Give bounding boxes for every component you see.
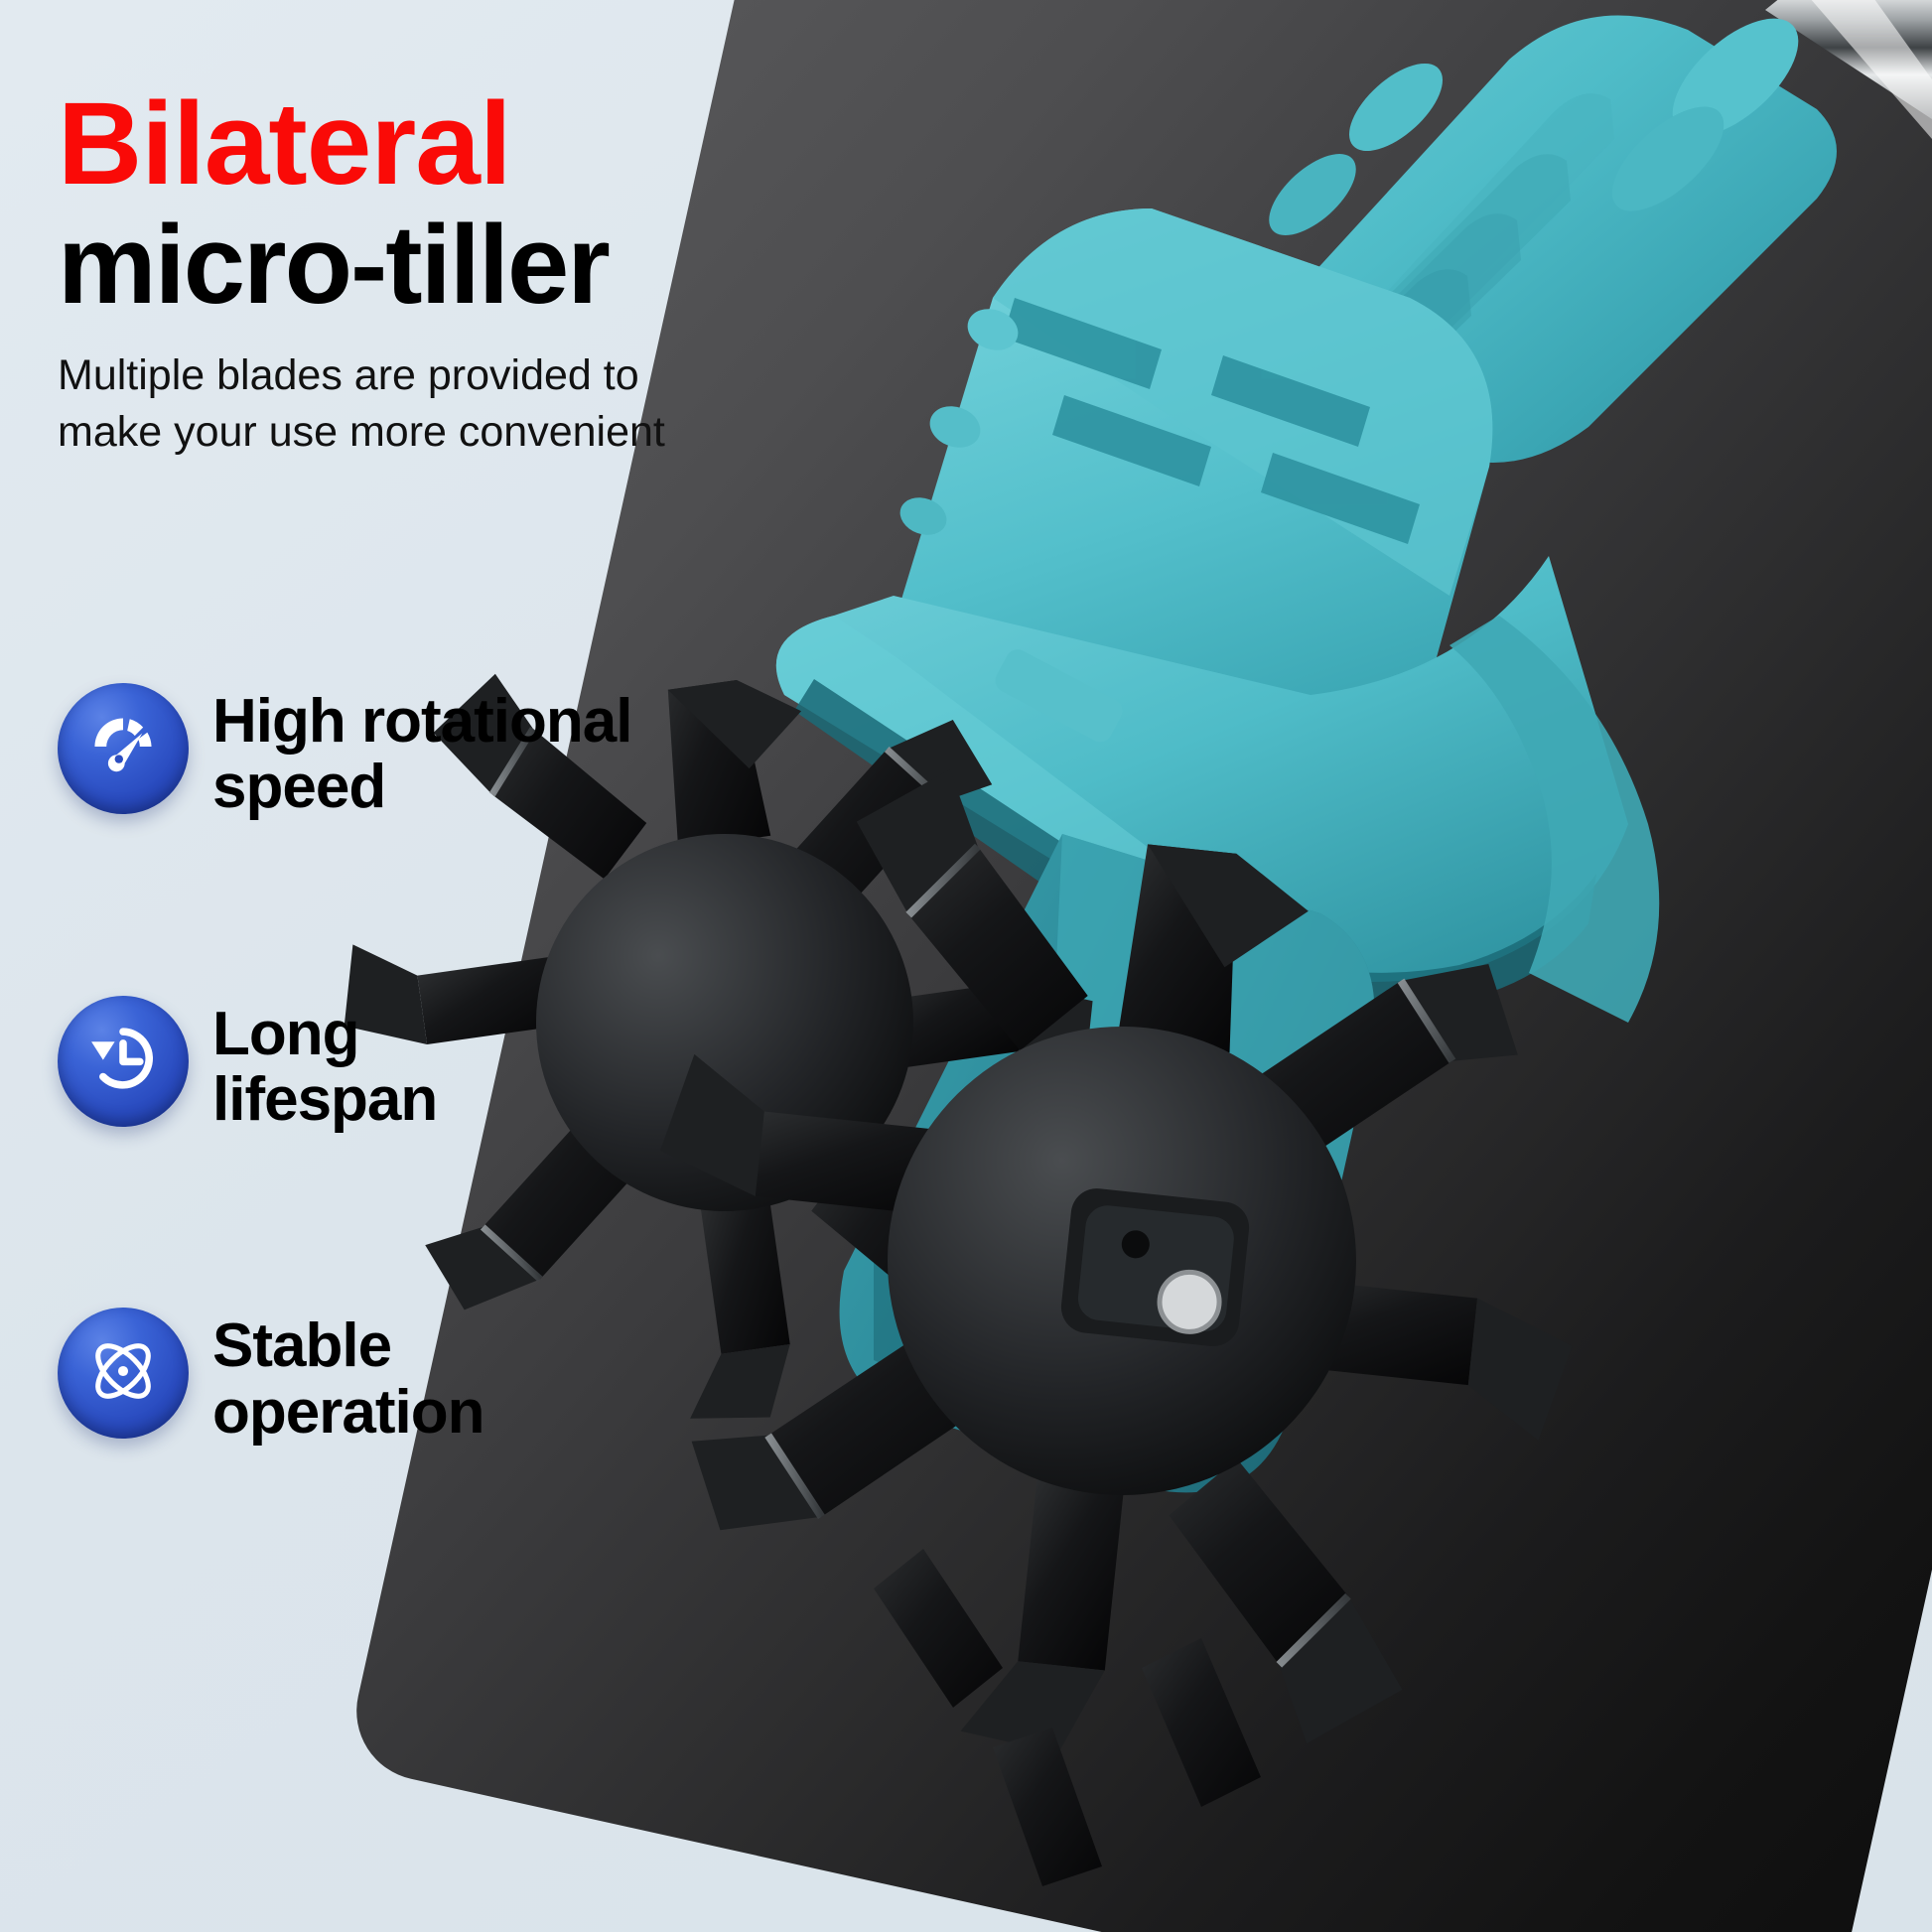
headline-subtitle: Multiple blades are provided to make you… [58,347,693,461]
feature-label: High rotational speed [212,683,631,821]
headline-line-2: micro-tiller [58,208,753,322]
headline-line-1: Bilateral [58,85,753,203]
feature-badge [58,1308,189,1439]
headline-block: Bilateral micro-tiller Multiple blades a… [58,85,753,462]
feature-badge [58,683,189,814]
feature-item-high-rotational-speed: High rotational speed [58,683,753,821]
feature-item-long-lifespan: Long lifespan [58,996,753,1134]
feature-badge [58,996,189,1127]
feature-label: Stable operation [212,1308,483,1446]
atom-icon [81,1329,165,1418]
product-feature-banner: Bilateral micro-tiller Multiple blades a… [0,0,1932,1932]
feature-list: High rotational speed Long lifespan [58,683,753,1446]
feature-label: Long lifespan [212,996,437,1134]
clock-history-icon [81,1017,165,1105]
speedometer-icon [81,705,165,793]
feature-item-stable-operation: Stable operation [58,1308,753,1446]
